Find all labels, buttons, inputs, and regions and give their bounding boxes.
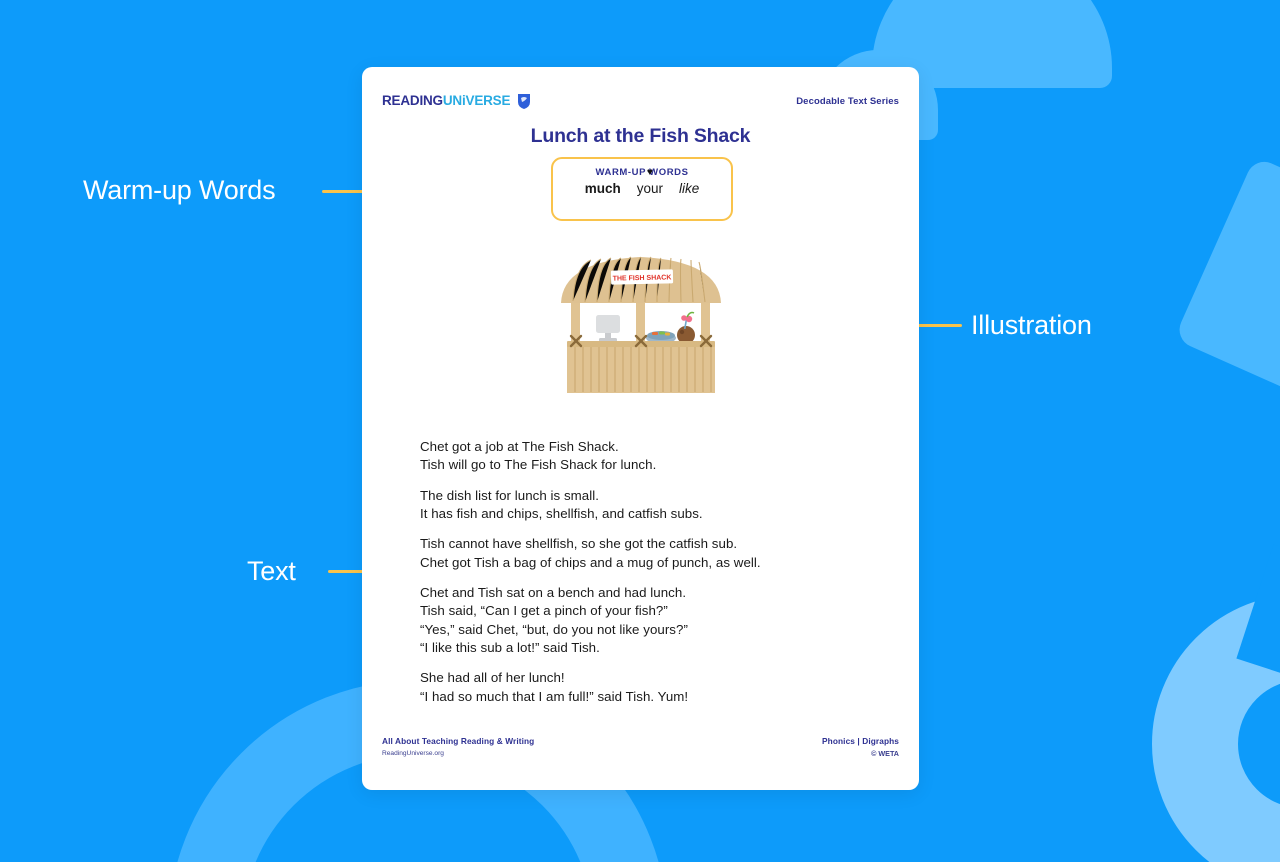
warm-up-word-2-text: your bbox=[637, 181, 663, 196]
warm-up-words-list: much ♥ your like bbox=[585, 181, 700, 198]
warm-up-word-1: much bbox=[585, 181, 621, 198]
worksheet-page: READINGUNiVERSE Decodable Text Series Lu… bbox=[362, 67, 919, 790]
footer-right-title: Phonics | Digraphs bbox=[822, 735, 899, 747]
annotation-label-warmup-words: Warm-up Words bbox=[83, 175, 275, 206]
logo-text-universe: UNiVERSE bbox=[443, 93, 510, 108]
reading-universe-logo: READINGUNiVERSE bbox=[382, 91, 535, 111]
worksheet-footer: All About Teaching Reading & Writing Rea… bbox=[382, 735, 899, 760]
warm-up-word-3: like bbox=[679, 181, 699, 198]
story-paragraph-5: She had all of her lunch!“I had so much … bbox=[420, 669, 885, 706]
story-paragraph-4: Chet and Tish sat on a bench and had lun… bbox=[420, 584, 885, 657]
shield-icon bbox=[515, 91, 535, 111]
story-paragraph-1: Chet got a job at The Fish Shack.Tish wi… bbox=[420, 438, 885, 475]
series-tag: Decodable Text Series bbox=[796, 96, 899, 107]
footer-right: Phonics | Digraphs © WETA bbox=[822, 735, 899, 760]
heart-icon: ♥ bbox=[637, 168, 663, 178]
annotation-label-illustration: Illustration bbox=[971, 310, 1092, 341]
story-text-block: Chet got a job at The Fish Shack.Tish wi… bbox=[420, 438, 885, 706]
illustration-container: THE FISH SHACK bbox=[362, 247, 919, 407]
rounded-slab-right bbox=[1174, 156, 1280, 400]
footer-left: All About Teaching Reading & Writing Rea… bbox=[382, 735, 534, 759]
footer-copyright: © WETA bbox=[822, 749, 899, 760]
fish-shack-illustration: THE FISH SHACK bbox=[551, 247, 731, 407]
logo-wordmark: READINGUNiVERSE bbox=[382, 94, 510, 108]
footer-left-url: ReadingUniverse.org bbox=[382, 749, 534, 759]
annotation-label-text: Text bbox=[247, 556, 296, 587]
warm-up-word-2: ♥ your bbox=[637, 181, 663, 198]
warm-up-words-box: WARM-UP WORDS much ♥ your like bbox=[551, 157, 733, 221]
footer-left-title: All About Teaching Reading & Writing bbox=[382, 735, 534, 747]
fish-shack-sign-text: THE FISH SHACK bbox=[612, 274, 671, 282]
page-title: Lunch at the Fish Shack bbox=[362, 125, 919, 148]
story-paragraph-2: The dish list for lunch is small.It has … bbox=[420, 487, 885, 524]
worksheet-header: READINGUNiVERSE Decodable Text Series bbox=[382, 91, 899, 111]
story-paragraph-3: Tish cannot have shellfish, so she got t… bbox=[420, 535, 885, 572]
logo-text-reading: READING bbox=[382, 93, 443, 108]
